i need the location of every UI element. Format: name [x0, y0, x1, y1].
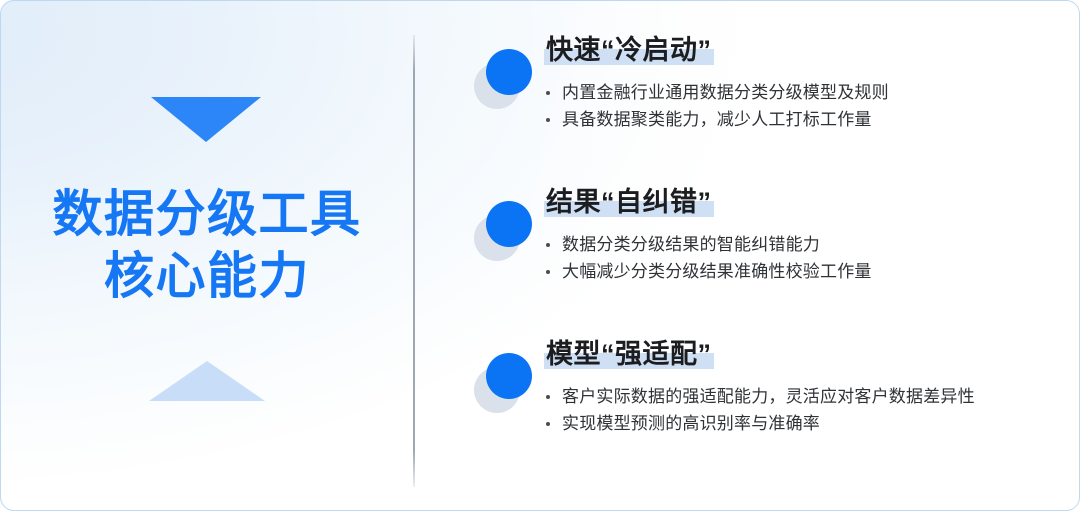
feature-body: 模型“强适配” 客户实际数据的强适配能力，灵活应对客户数据差异性 实现模型预测的…: [544, 337, 1074, 438]
feature-item: 模型“强适配” 客户实际数据的强适配能力，灵活应对客户数据差异性 实现模型预测的…: [413, 337, 1080, 477]
feature-heading: 快速“冷启动”: [544, 33, 714, 69]
feature-body: 快速“冷启动” 内置金融行业通用数据分类分级模型及规则 具备数据聚类能力，减少人…: [544, 33, 1074, 134]
bullet-circle-icon: [474, 49, 534, 109]
bullet-dot-icon: [546, 118, 550, 122]
feature-bullet-list: 客户实际数据的强适配能力，灵活应对客户数据差异性 实现模型预测的高识别率与准确率: [544, 383, 1074, 438]
feature-body: 结果“自纠错” 数据分类分级结果的智能纠错能力 大幅减少分类分级结果准确性校验工…: [544, 185, 1074, 286]
list-item-text: 实现模型预测的高识别率与准确率: [562, 414, 820, 433]
feature-heading: 结果“自纠错”: [544, 185, 714, 221]
list-item-text: 客户实际数据的强适配能力，灵活应对客户数据差异性: [562, 387, 975, 406]
features-panel: 快速“冷启动” 内置金融行业通用数据分类分级模型及规则 具备数据聚类能力，减少人…: [413, 1, 1080, 511]
list-item: 实现模型预测的高识别率与准确率: [544, 410, 1074, 438]
triangle-down-icon: [151, 97, 261, 142]
feature-item: 快速“冷启动” 内置金融行业通用数据分类分级模型及规则 具备数据聚类能力，减少人…: [413, 33, 1080, 173]
feature-heading-text: 模型“强适配”: [546, 339, 712, 369]
bullet-circle-main-icon: [486, 49, 532, 95]
list-item: 具备数据聚类能力，减少人工打标工作量: [544, 106, 1074, 134]
feature-bullet-list: 数据分类分级结果的智能纠错能力 大幅减少分类分级结果准确性校验工作量: [544, 231, 1074, 286]
list-item: 数据分类分级结果的智能纠错能力: [544, 231, 1074, 259]
slide-canvas: 数据分级工具 核心能力 快速“冷启动” 内置金融行业通用数据分类分级模型及: [0, 0, 1080, 511]
page-title-line-1: 数据分级工具: [1, 183, 413, 245]
list-item: 大幅减少分类分级结果准确性校验工作量: [544, 258, 1074, 286]
list-item-text: 内置金融行业通用数据分类分级模型及规则: [562, 83, 889, 102]
feature-item: 结果“自纠错” 数据分类分级结果的智能纠错能力 大幅减少分类分级结果准确性校验工…: [413, 185, 1080, 325]
page-title-line-2: 核心能力: [1, 245, 413, 307]
feature-heading-text: 结果“自纠错”: [546, 187, 712, 217]
list-item: 客户实际数据的强适配能力，灵活应对客户数据差异性: [544, 383, 1074, 411]
feature-bullet-list: 内置金融行业通用数据分类分级模型及规则 具备数据聚类能力，减少人工打标工作量: [544, 79, 1074, 134]
bullet-dot-icon: [546, 422, 550, 426]
list-item-text: 大幅减少分类分级结果准确性校验工作量: [562, 262, 872, 281]
triangle-up-icon: [149, 361, 265, 401]
list-item-text: 具备数据聚类能力，减少人工打标工作量: [562, 110, 872, 129]
list-item: 内置金融行业通用数据分类分级模型及规则: [544, 79, 1074, 107]
bullet-dot-icon: [546, 395, 550, 399]
bullet-circle-icon: [474, 201, 534, 261]
bullet-circle-icon: [474, 353, 534, 413]
list-item-text: 数据分类分级结果的智能纠错能力: [562, 235, 820, 254]
feature-heading-text: 快速“冷启动”: [546, 35, 712, 65]
page-title: 数据分级工具 核心能力: [1, 183, 413, 307]
bullet-dot-icon: [546, 91, 550, 95]
bullet-dot-icon: [546, 243, 550, 247]
bullet-circle-main-icon: [486, 353, 532, 399]
feature-heading: 模型“强适配”: [544, 337, 714, 373]
bullet-dot-icon: [546, 270, 550, 274]
bullet-circle-main-icon: [486, 201, 532, 247]
left-title-panel: 数据分级工具 核心能力: [1, 1, 413, 511]
